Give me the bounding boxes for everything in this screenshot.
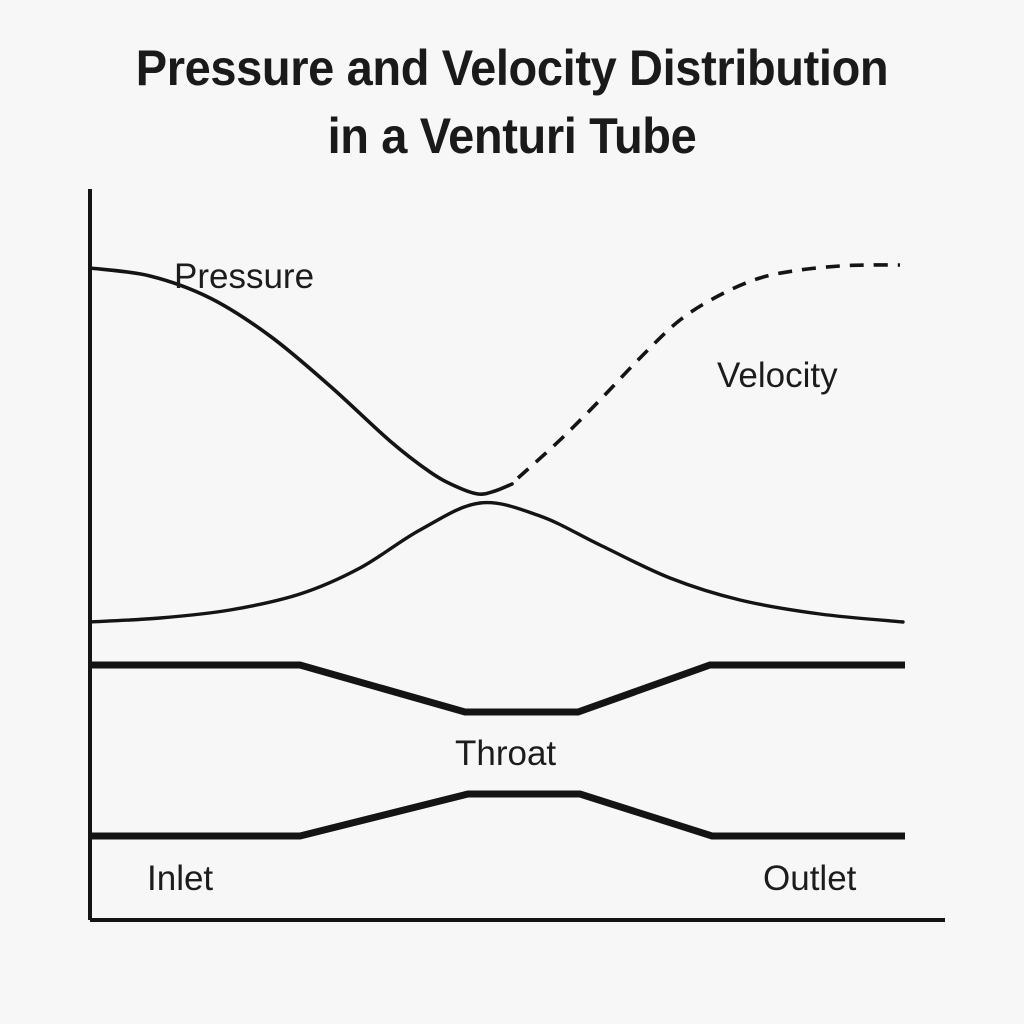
venturi-lower-wall [90, 794, 905, 836]
venturi-upper-wall [90, 665, 905, 712]
venturi-diagram-canvas: Pressure and Velocity Distribution in a … [0, 0, 1024, 1024]
chart-axes [90, 189, 945, 920]
velocity-curve [518, 265, 900, 478]
venturi-tube-geometry [90, 665, 905, 836]
chart-plot-area [0, 0, 1024, 1024]
secondary-pressure-curve [90, 503, 903, 622]
pressure-curve [90, 268, 512, 494]
